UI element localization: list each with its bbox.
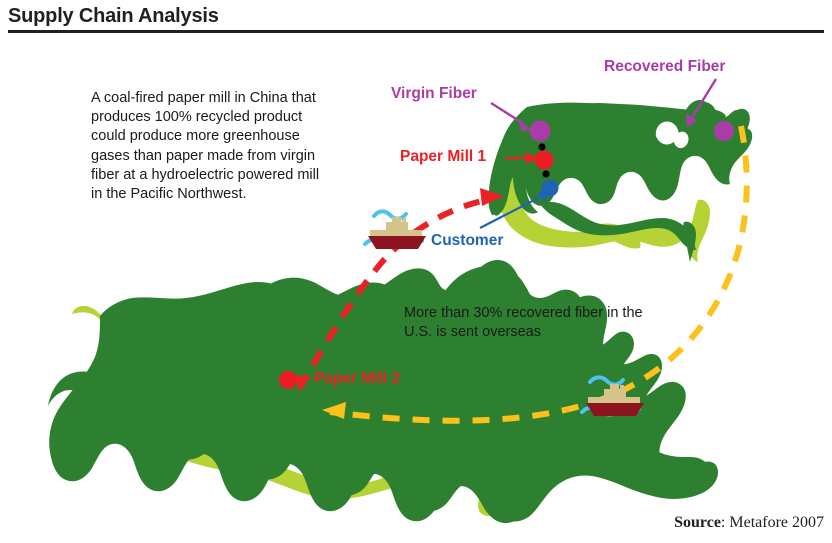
ship-wave-top [374, 211, 406, 218]
recovered-fiber-marker[interactable] [714, 121, 734, 141]
ship-funnel [402, 218, 406, 223]
ship-superstructure [386, 222, 408, 231]
ship-superstructure [604, 389, 626, 398]
callout-label-virgin-fiber[interactable]: Virgin Fiber [391, 85, 477, 103]
source-attribution: Source: Metafore 2007 [674, 514, 824, 532]
customer-marker[interactable] [542, 180, 559, 197]
overseas-fiber-note: More than 30% recovered fiber in the U.S… [404, 304, 666, 342]
callout-label-recovered-fiber[interactable]: Recovered Fiber [604, 58, 725, 76]
callout-label-paper-mill-2[interactable]: Paper Mill 2 [314, 370, 400, 388]
region-united-states [488, 100, 752, 262]
source-value: : Metafore 2007 [721, 514, 824, 531]
slide-canvas: Supply Chain Analysis [0, 0, 832, 543]
callout-label-customer[interactable]: Customer [431, 232, 503, 250]
ship-bridge [610, 384, 619, 390]
paper-mill-1-marker[interactable] [535, 151, 554, 170]
ship-hull [586, 403, 644, 416]
virgin-fiber-marker[interactable] [530, 121, 551, 142]
mill-cluster-dot-south [542, 170, 549, 177]
callout-label-paper-mill-1[interactable]: Paper Mill 1 [400, 148, 486, 166]
ship-funnel [620, 385, 624, 390]
paper-mill-2-marker[interactable] [279, 371, 297, 389]
source-label: Source [674, 514, 721, 531]
cargo-ship-westbound [365, 211, 426, 249]
intro-paragraph: A coal-fired paper mill in China that pr… [91, 89, 327, 204]
ship-bridge [392, 217, 401, 223]
supply-chain-map [0, 0, 832, 543]
ship-hull [368, 236, 426, 249]
mill-cluster-dot-north [538, 143, 545, 150]
